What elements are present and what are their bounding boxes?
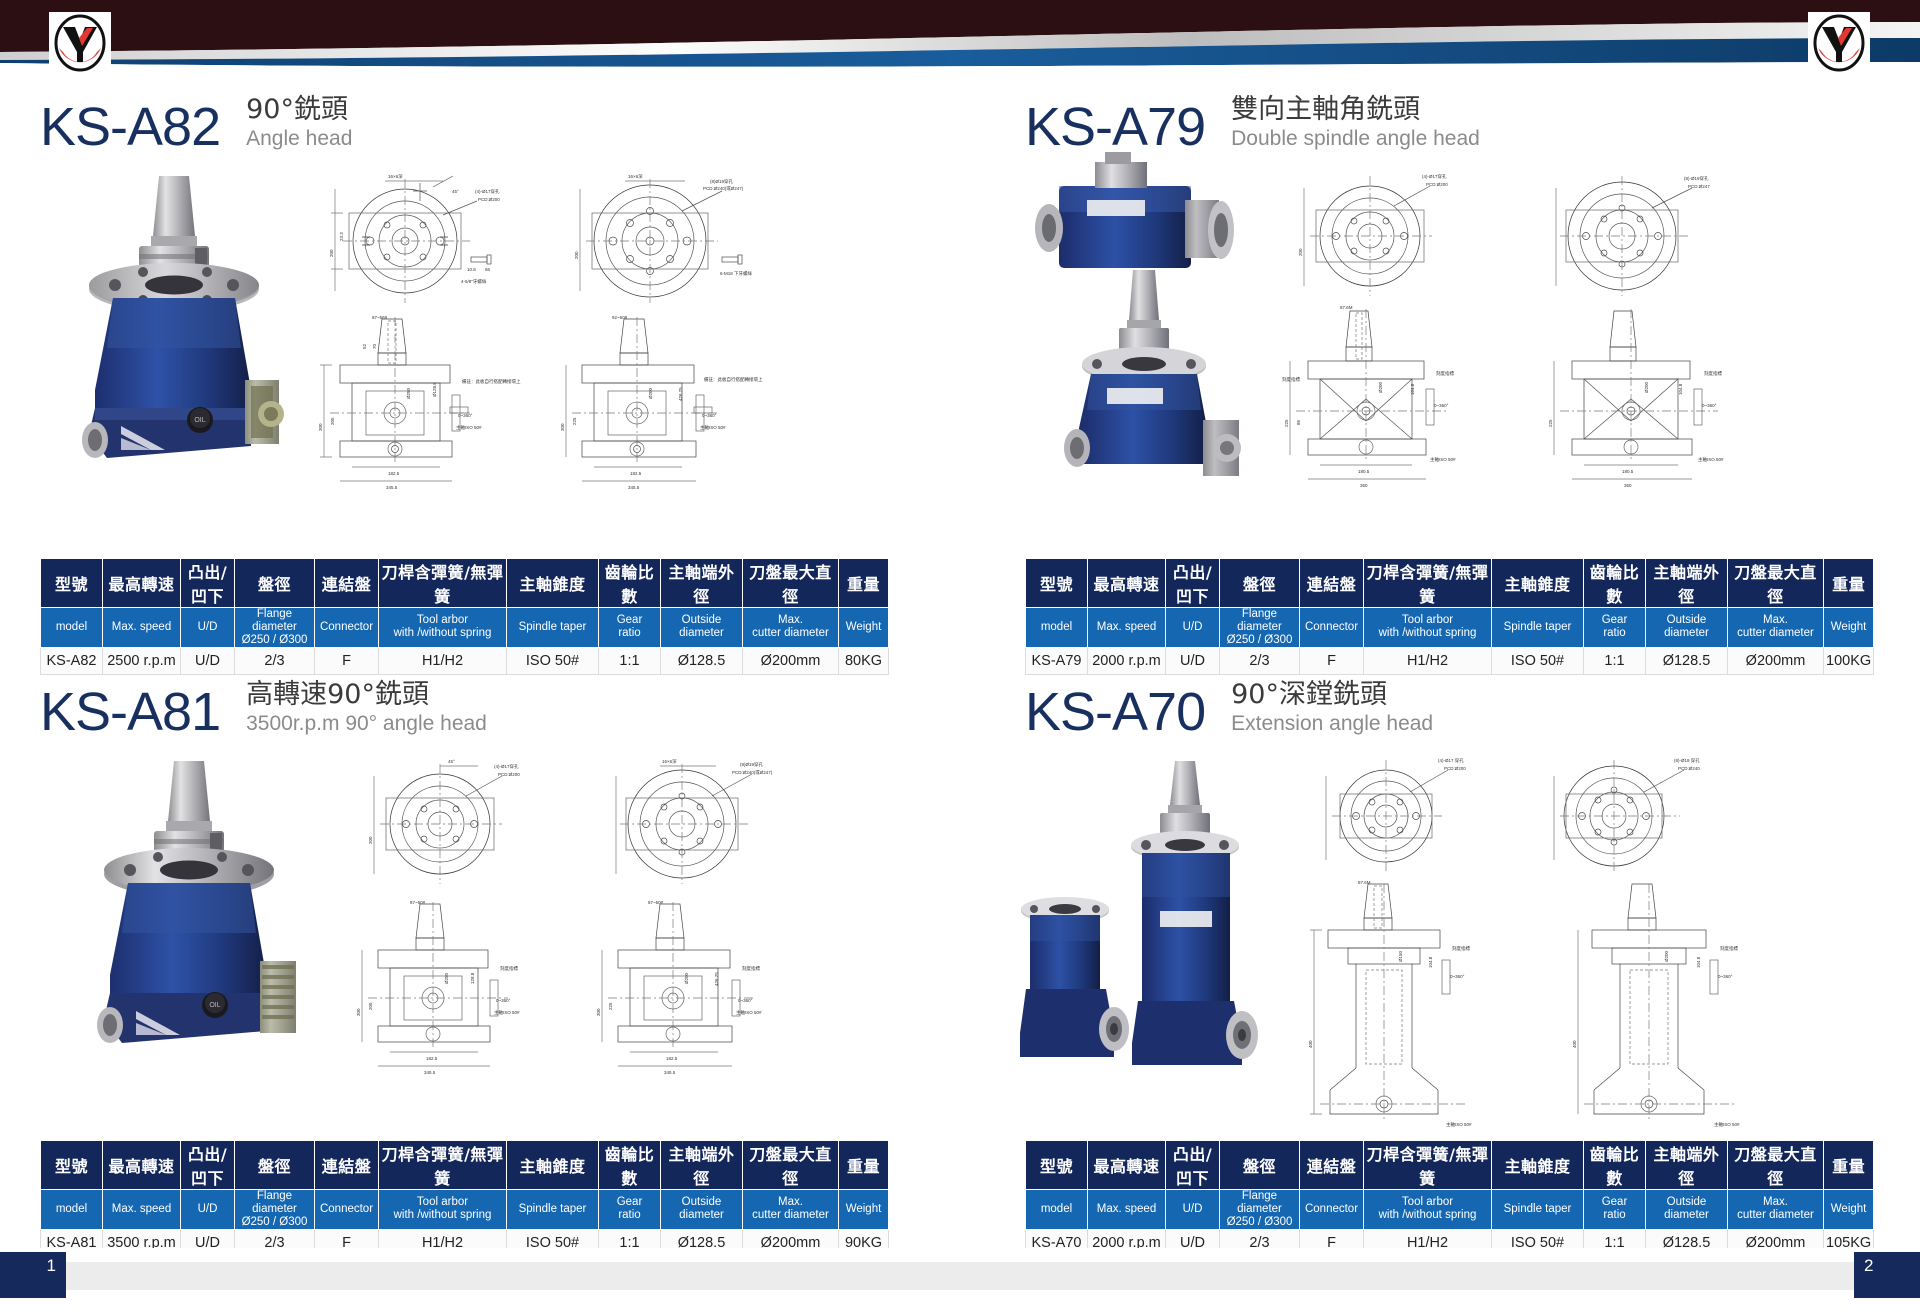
svg-text:225: 225 [1548,419,1553,427]
svg-text:Ø250: Ø250 [444,972,449,984]
footer-white-strip [0,1248,1920,1262]
svg-text:PCD:Ø200: PCD:Ø200 [1444,766,1466,771]
th-en-gear-ratio: Gearratio [1584,608,1646,648]
product-header: KS-A70 90°深鏜銑頭 Extension angle head [1025,679,1433,739]
th-cn-ud: 凸出/凹下 [1166,1141,1220,1190]
svg-text:345.5: 345.5 [386,485,398,490]
th-cn-connector: 連結盤 [315,1141,379,1190]
th-cn-max-cutter: 刀盤最大直徑 [1728,1141,1824,1190]
th-cn-gear-ratio: 齒輪比數 [599,1141,661,1190]
svg-text:(8)Ø19穿孔: (8)Ø19穿孔 [740,761,764,768]
th-en-outside-dia: Outsidediameter [1646,1190,1728,1230]
svg-text:備註：此板自行搭配轉接環上: 備註：此板自行搭配轉接環上 [462,378,521,385]
th-cn-spindle-taper: 主軸錐度 [1492,559,1584,608]
th-en-gear-ratio: Gearratio [599,608,661,648]
svg-text:(4)-Ø17 穿孔: (4)-Ø17 穿孔 [1438,757,1464,764]
th-en-spindle-taper: Spindle taper [1492,1190,1584,1230]
th-cn-connector: 連結盤 [1300,559,1364,608]
catalog-page: KS-A82 90°銑頭 Angle head [0,0,1920,1311]
svg-text:200: 200 [1298,248,1303,256]
svg-text:0~360°: 0~360° [1450,974,1465,979]
svg-text:6-M18 下牙螺絲: 6-M18 下牙螺絲 [720,270,753,277]
title-english: 3500r.p.m 90° angle head [246,711,487,736]
svg-text:主軸ISO 50#: 主軸ISO 50# [494,1009,520,1016]
th-en-gear-ratio: Gearratio [1584,1190,1646,1230]
svg-text:426.75: 426.75 [714,972,719,986]
svg-text:66: 66 [485,267,491,272]
company-logo-left [49,12,111,74]
technical-drawing-set: 200 (4)-Ø17穿孔 PCD:Ø200 [1250,158,1910,548]
svg-text:Ø200: Ø200 [684,972,689,984]
model-code: KS-A81 [40,685,220,739]
th-en-max-speed: Max. speed [103,608,181,648]
th-en-outside-dia: Outsidediameter [661,1190,743,1230]
svg-text:主軸ISO 50#: 主軸ISO 50# [456,424,482,431]
th-en-outside-dia: Outsidediameter [661,608,743,648]
th-en-connector: Connector [315,1190,379,1230]
th-en-connector: Connector [1300,1190,1364,1230]
product-section-ks-a70: KS-A70 90°深鏜銑頭 Extension angle head [960,663,1920,1248]
th-en-spindle-taper: Spindle taper [507,608,599,648]
svg-text:87~50#: 87~50# [648,900,664,905]
svg-text:主軸ISO 50#: 主軸ISO 50# [1714,1121,1740,1128]
th-cn-tool-arbor: 刀桿含彈簧/無彈簧 [379,559,507,608]
th-cn-outside-dia: 主軸端外徑 [1646,1141,1728,1190]
page-number-right: 2 [1854,1252,1920,1298]
th-cn-max-speed: 最高轉速 [1088,559,1166,608]
svg-text:205: 205 [368,1002,373,1010]
th-en-tool-arbor: Tool arborwith /without spring [379,608,507,648]
th-en-max-cutter: Max.cutter diameter [743,1190,839,1230]
svg-text:主軸ISO 50#: 主軸ISO 50# [700,424,726,431]
svg-text:182.5: 182.5 [630,471,642,476]
th-cn-ud: 凸出/凹下 [181,1141,235,1190]
th-en-tool-arbor: Tool arborwith /without spring [1364,608,1492,648]
svg-text:400: 400 [1308,1040,1313,1048]
svg-text:300: 300 [318,423,323,431]
svg-text:備註：此板自行搭配轉接環上: 備註：此板自行搭配轉接環上 [704,376,763,383]
svg-text:87~50#: 87~50# [410,900,426,905]
svg-text:345.5: 345.5 [424,1070,436,1075]
th-en-tool-arbor: Tool arborwith /without spring [379,1190,507,1230]
svg-text:主軸ISO 50#: 主軸ISO 50# [1446,1121,1472,1128]
th-en-spindle-taper: Spindle taper [1492,608,1584,648]
svg-text:45°: 45° [452,189,459,194]
title-english: Extension angle head [1231,711,1433,736]
model-code: KS-A82 [40,100,220,154]
svg-text:0~360°: 0~360° [1718,974,1733,979]
th-en-max-cutter: Max.cutter diameter [1728,1190,1824,1230]
svg-text:(8)-Ø19穿孔: (8)-Ø19穿孔 [1684,175,1709,182]
th-cn-spindle-taper: 主軸錐度 [507,559,599,608]
svg-text:180.5: 180.5 [1358,469,1370,474]
svg-text:45°: 45° [448,759,455,764]
svg-text:0~360°: 0~360° [496,998,511,1003]
th-cn-outside-dia: 主軸端外徑 [661,559,743,608]
th-cn-model: 型號 [1026,559,1088,608]
th-en-weight: Weight [1824,608,1874,648]
svg-text:0~360°: 0~360° [702,413,717,418]
header-row-english: model Max. speed U/D Flange diameterØ250… [1026,1190,1874,1230]
th-en-ud: U/D [1166,608,1220,648]
svg-text:360: 360 [1624,483,1632,488]
th-cn-outside-dia: 主軸端外徑 [661,1141,743,1190]
th-cn-max-cutter: 刀盤最大直徑 [743,559,839,608]
svg-text:128.8: 128.8 [470,972,475,984]
svg-text:(4)-Ø17穿孔: (4)-Ø17穿孔 [494,763,519,770]
th-cn-weight: 重量 [1824,559,1874,608]
svg-text:10.8: 10.8 [467,267,476,272]
th-en-max-speed: Max. speed [1088,1190,1166,1230]
company-logo-right [1808,12,1870,74]
th-en-model: model [1026,608,1088,648]
company-y-logo-icon [1808,12,1870,74]
svg-text:345.5: 345.5 [628,485,640,490]
th-cn-max-speed: 最高轉速 [1088,1141,1166,1190]
th-en-flange: Flange diameterØ250 / Ø300 [235,608,315,648]
th-en-model: model [1026,1190,1088,1230]
th-cn-spindle-taper: 主軸錐度 [1492,1141,1584,1190]
svg-text:205: 205 [330,417,335,425]
svg-text:主軸ISO 50#: 主軸ISO 50# [1430,456,1456,463]
th-cn-model: 型號 [41,559,103,608]
svg-text:104.8: 104.8 [1696,956,1701,968]
title-chinese: 雙向主軸角銑頭 [1231,94,1480,126]
title-chinese: 90°銑頭 [246,94,352,126]
th-cn-gear-ratio: 齒輪比數 [599,559,661,608]
th-en-outside-dia: Outsidediameter [1646,608,1728,648]
svg-text:Ø200: Ø200 [648,387,653,399]
th-cn-flange: 盤徑 [1220,1141,1300,1190]
svg-text:刻度指標: 刻度指標 [1452,945,1470,952]
page-number-left: 1 [0,1252,66,1298]
svg-text:70: 70 [372,343,377,349]
th-cn-weight: 重量 [839,1141,889,1190]
th-cn-gear-ratio: 齒輪比數 [1584,559,1646,608]
product-photo: OIL [55,158,305,478]
svg-text:Ø150: Ø150 [1398,950,1403,962]
th-cn-max-cutter: 刀盤最大直徑 [1728,559,1824,608]
th-cn-gear-ratio: 齒輪比數 [1584,1141,1646,1190]
th-en-model: model [41,1190,103,1230]
th-cn-outside-dia: 主軸端外徑 [1646,559,1728,608]
th-cn-spindle-taper: 主軸錐度 [507,1141,599,1190]
th-en-flange: Flange diameterØ250 / Ø300 [1220,608,1300,648]
svg-text:300: 300 [560,423,565,431]
technical-drawing-set: 200 45° (4)-Ø17穿孔 PCD:Ø200 [330,748,950,1128]
th-cn-connector: 連結盤 [315,559,379,608]
header-row-chinese: 型號 最高轉速 凸出/凹下 盤徑 連結盤 刀桿含彈簧/無彈簧 主軸錐度 齒輪比數… [41,1141,889,1190]
svg-text:200: 200 [329,249,334,257]
th-cn-flange: 盤徑 [235,559,315,608]
svg-text:400: 400 [1572,1040,1577,1048]
th-en-connector: Connector [1300,608,1364,648]
th-en-max-cutter: Max.cutter diameter [743,608,839,648]
svg-text:86: 86 [1296,419,1301,425]
technical-drawing-set: 200 23.3 16×6深 45° (4)-Ø17穿孔 PCD:Ø200 [290,163,930,543]
svg-text:182.5: 182.5 [388,471,400,476]
svg-text:Ø200: Ø200 [1664,950,1669,962]
svg-text:刻度指標: 刻度指標 [1720,945,1738,952]
svg-text:PCD:Ø200: PCD:Ø200 [478,197,500,202]
product-photo: OIL [70,743,320,1063]
svg-text:刻度指標: 刻度指標 [1282,376,1300,383]
svg-text:PCD:Ø247: PCD:Ø247 [1688,184,1710,189]
svg-text:Ø250: Ø250 [406,387,411,399]
svg-text:OIL: OIL [194,417,205,424]
svg-text:PCD:Ø200: PCD:Ø200 [1426,182,1448,187]
svg-text:0~360°: 0~360° [738,998,753,1003]
th-en-ud: U/D [1166,1190,1220,1230]
svg-text:52: 52 [362,343,367,349]
svg-text:Ø200: Ø200 [1378,381,1383,393]
spec-table-ks-a70: 型號 最高轉速 凸出/凹下 盤徑 連結盤 刀桿含彈簧/無彈簧 主軸錐度 齒輪比數… [1025,1140,1874,1257]
product-header: KS-A82 90°銑頭 Angle head [40,94,352,154]
svg-text:0~360°: 0~360° [1434,403,1449,408]
svg-text:180.5: 180.5 [1622,469,1634,474]
svg-text:345.5: 345.5 [664,1070,676,1075]
spec-table-ks-a81: 型號 最高轉速 凸出/凹下 盤徑 連結盤 刀桿含彈簧/無彈簧 主軸錐度 齒輪比數… [40,1140,889,1257]
th-cn-model: 型號 [1026,1141,1088,1190]
title-english: Angle head [246,126,352,151]
svg-text:104.8: 104.8 [1410,383,1415,395]
svg-text:4-5/8"牙螺絲: 4-5/8"牙螺絲 [461,278,487,285]
svg-text:刻度指標: 刻度指標 [1704,370,1722,377]
th-en-gear-ratio: Gearratio [599,1190,661,1230]
th-en-flange: Flange diameterØ250 / Ø300 [1220,1190,1300,1230]
th-en-ud: U/D [181,608,235,648]
model-code: KS-A79 [1025,100,1205,154]
svg-text:104.8: 104.8 [1678,383,1683,395]
header-row-chinese: 型號 最高轉速 凸出/凹下 盤徑 連結盤 刀桿含彈簧/無彈簧 主軸錐度 齒輪比數… [41,559,889,608]
svg-text:225: 225 [572,417,577,425]
svg-text:360: 360 [1360,483,1368,488]
svg-text:0~360°: 0~360° [458,413,473,418]
th-cn-flange: 盤徑 [235,1141,315,1190]
company-y-logo-icon [49,12,111,74]
th-en-max-speed: Max. speed [1088,608,1166,648]
model-code: KS-A70 [1025,685,1205,739]
th-cn-tool-arbor: 刀桿含彈簧/無彈簧 [1364,559,1492,608]
title-chinese: 90°深鏜銑頭 [1231,679,1433,711]
th-cn-connector: 連結盤 [1300,1141,1364,1190]
svg-text:225: 225 [608,1002,613,1010]
svg-text:200: 200 [368,836,373,844]
th-cn-flange: 盤徑 [1220,559,1300,608]
svg-text:PCD:Ø240(或Ø247): PCD:Ø240(或Ø247) [703,185,744,191]
svg-text:16×6深: 16×6深 [628,173,643,180]
th-cn-tool-arbor: 刀桿含彈簧/無彈簧 [379,1141,507,1190]
header-row-english: model Max. speed U/D Flange diameterØ250… [41,608,889,648]
svg-text:426.75: 426.75 [678,387,683,401]
svg-text:104.8: 104.8 [1428,956,1433,968]
svg-text:PCD:Ø240: PCD:Ø240 [1678,766,1700,771]
th-en-ud: U/D [181,1190,235,1230]
svg-text:(8)-Ø19 穿孔: (8)-Ø19 穿孔 [1674,757,1700,764]
svg-text:PCD:Ø240(或Ø247): PCD:Ø240(或Ø247) [732,769,773,775]
th-cn-ud: 凸出/凹下 [1166,559,1220,608]
svg-text:87.6M: 87.6M [1340,305,1353,310]
th-cn-max-speed: 最高轉速 [103,1141,181,1190]
svg-text:OIL: OIL [209,1002,220,1009]
svg-text:87~569: 87~569 [372,315,388,320]
th-en-tool-arbor: Tool arborwith /without spring [1364,1190,1492,1230]
th-en-spindle-taper: Spindle taper [507,1190,599,1230]
th-en-model: model [41,608,103,648]
th-en-flange: Flange diameterØ250 / Ø300 [235,1190,315,1230]
th-en-max-speed: Max. speed [103,1190,181,1230]
product-header: KS-A79 雙向主軸角銑頭 Double spindle angle head [1025,94,1480,154]
svg-text:0~360°: 0~360° [1702,403,1717,408]
svg-text:刻度指標: 刻度指標 [742,965,760,972]
th-cn-weight: 重量 [839,559,889,608]
th-cn-tool-arbor: 刀桿含彈簧/無彈簧 [1364,1141,1492,1190]
svg-text:300: 300 [356,1008,361,1016]
svg-text:(4)-Ø17穿孔: (4)-Ø17穿孔 [1422,173,1447,180]
th-cn-model: 型號 [41,1141,103,1190]
svg-text:200: 200 [574,251,579,259]
svg-text:刻度指標: 刻度指標 [1436,370,1454,377]
svg-text:92~508: 92~508 [612,315,628,320]
svg-text:87.6M: 87.6M [1358,880,1371,885]
header-row-english: model Max. speed U/D Flange diameterØ250… [1026,608,1874,648]
header-row-english: model Max. speed U/D Flange diameterØ250… [41,1190,889,1230]
th-cn-max-cutter: 刀盤最大直徑 [743,1141,839,1190]
th-en-weight: Weight [839,1190,889,1230]
spec-table-ks-a79: 型號 最高轉速 凸出/凹下 盤徑 連結盤 刀桿含彈簧/無彈簧 主軸錐度 齒輪比數… [1025,558,1874,675]
th-en-connector: Connector [315,608,379,648]
product-section-ks-a81: KS-A81 高轉速90°銑頭 3500r.p.m 90° angle head [0,663,960,1248]
title-chinese: 高轉速90°銑頭 [246,679,487,711]
footer-bar [0,1262,1920,1290]
svg-text:主軸ISO 50#: 主軸ISO 50# [736,1009,762,1016]
product-header: KS-A81 高轉速90°銑頭 3500r.p.m 90° angle head [40,679,487,739]
svg-text:182.5: 182.5 [426,1056,438,1061]
svg-text:Ø200: Ø200 [1644,381,1649,393]
spec-table-ks-a82: 型號 最高轉速 凸出/凹下 盤徑 連結盤 刀桿含彈簧/無彈簧 主軸錐度 齒輪比數… [40,558,889,675]
svg-text:16×6深: 16×6深 [662,758,677,765]
product-photo [1020,743,1300,1073]
svg-text:23.3: 23.3 [339,232,344,241]
header-row-chinese: 型號 最高轉速 凸出/凹下 盤徑 連結盤 刀桿含彈簧/無彈簧 主軸錐度 齒輪比數… [1026,1141,1874,1190]
header-row-chinese: 型號 最高轉速 凸出/凹下 盤徑 連結盤 刀桿含彈簧/無彈簧 主軸錐度 齒輪比數… [1026,559,1874,608]
svg-text:PCD:Ø200: PCD:Ø200 [498,772,520,777]
svg-text:刻度指標: 刻度指標 [500,965,518,972]
svg-text:16×6深: 16×6深 [388,173,403,180]
svg-text:225: 225 [1284,419,1289,427]
technical-drawing-set: (4)-Ø17 穿孔 PCD:Ø200 [1270,748,1910,1128]
svg-text:(4)-Ø17穿孔: (4)-Ø17穿孔 [475,188,500,195]
th-en-weight: Weight [1824,1190,1874,1230]
th-en-weight: Weight [839,608,889,648]
top-banner [0,0,1920,78]
svg-text:(8)Ø19穿孔: (8)Ø19穿孔 [710,178,734,185]
th-cn-max-speed: 最高轉速 [103,559,181,608]
product-section-ks-a79: KS-A79 雙向主軸角銑頭 Double spindle angle head [960,78,1920,663]
th-cn-weight: 重量 [1824,1141,1874,1190]
th-en-max-cutter: Max.cutter diameter [1728,608,1824,648]
product-section-ks-a82: KS-A82 90°銑頭 Angle head [0,78,960,663]
svg-text:主軸ISO 50#: 主軸ISO 50# [1698,456,1724,463]
svg-text:182.5: 182.5 [666,1056,678,1061]
th-cn-ud: 凸出/凹下 [181,559,235,608]
svg-text:300: 300 [596,1008,601,1016]
svg-text:Ø128.5: Ø128.5 [432,382,437,397]
